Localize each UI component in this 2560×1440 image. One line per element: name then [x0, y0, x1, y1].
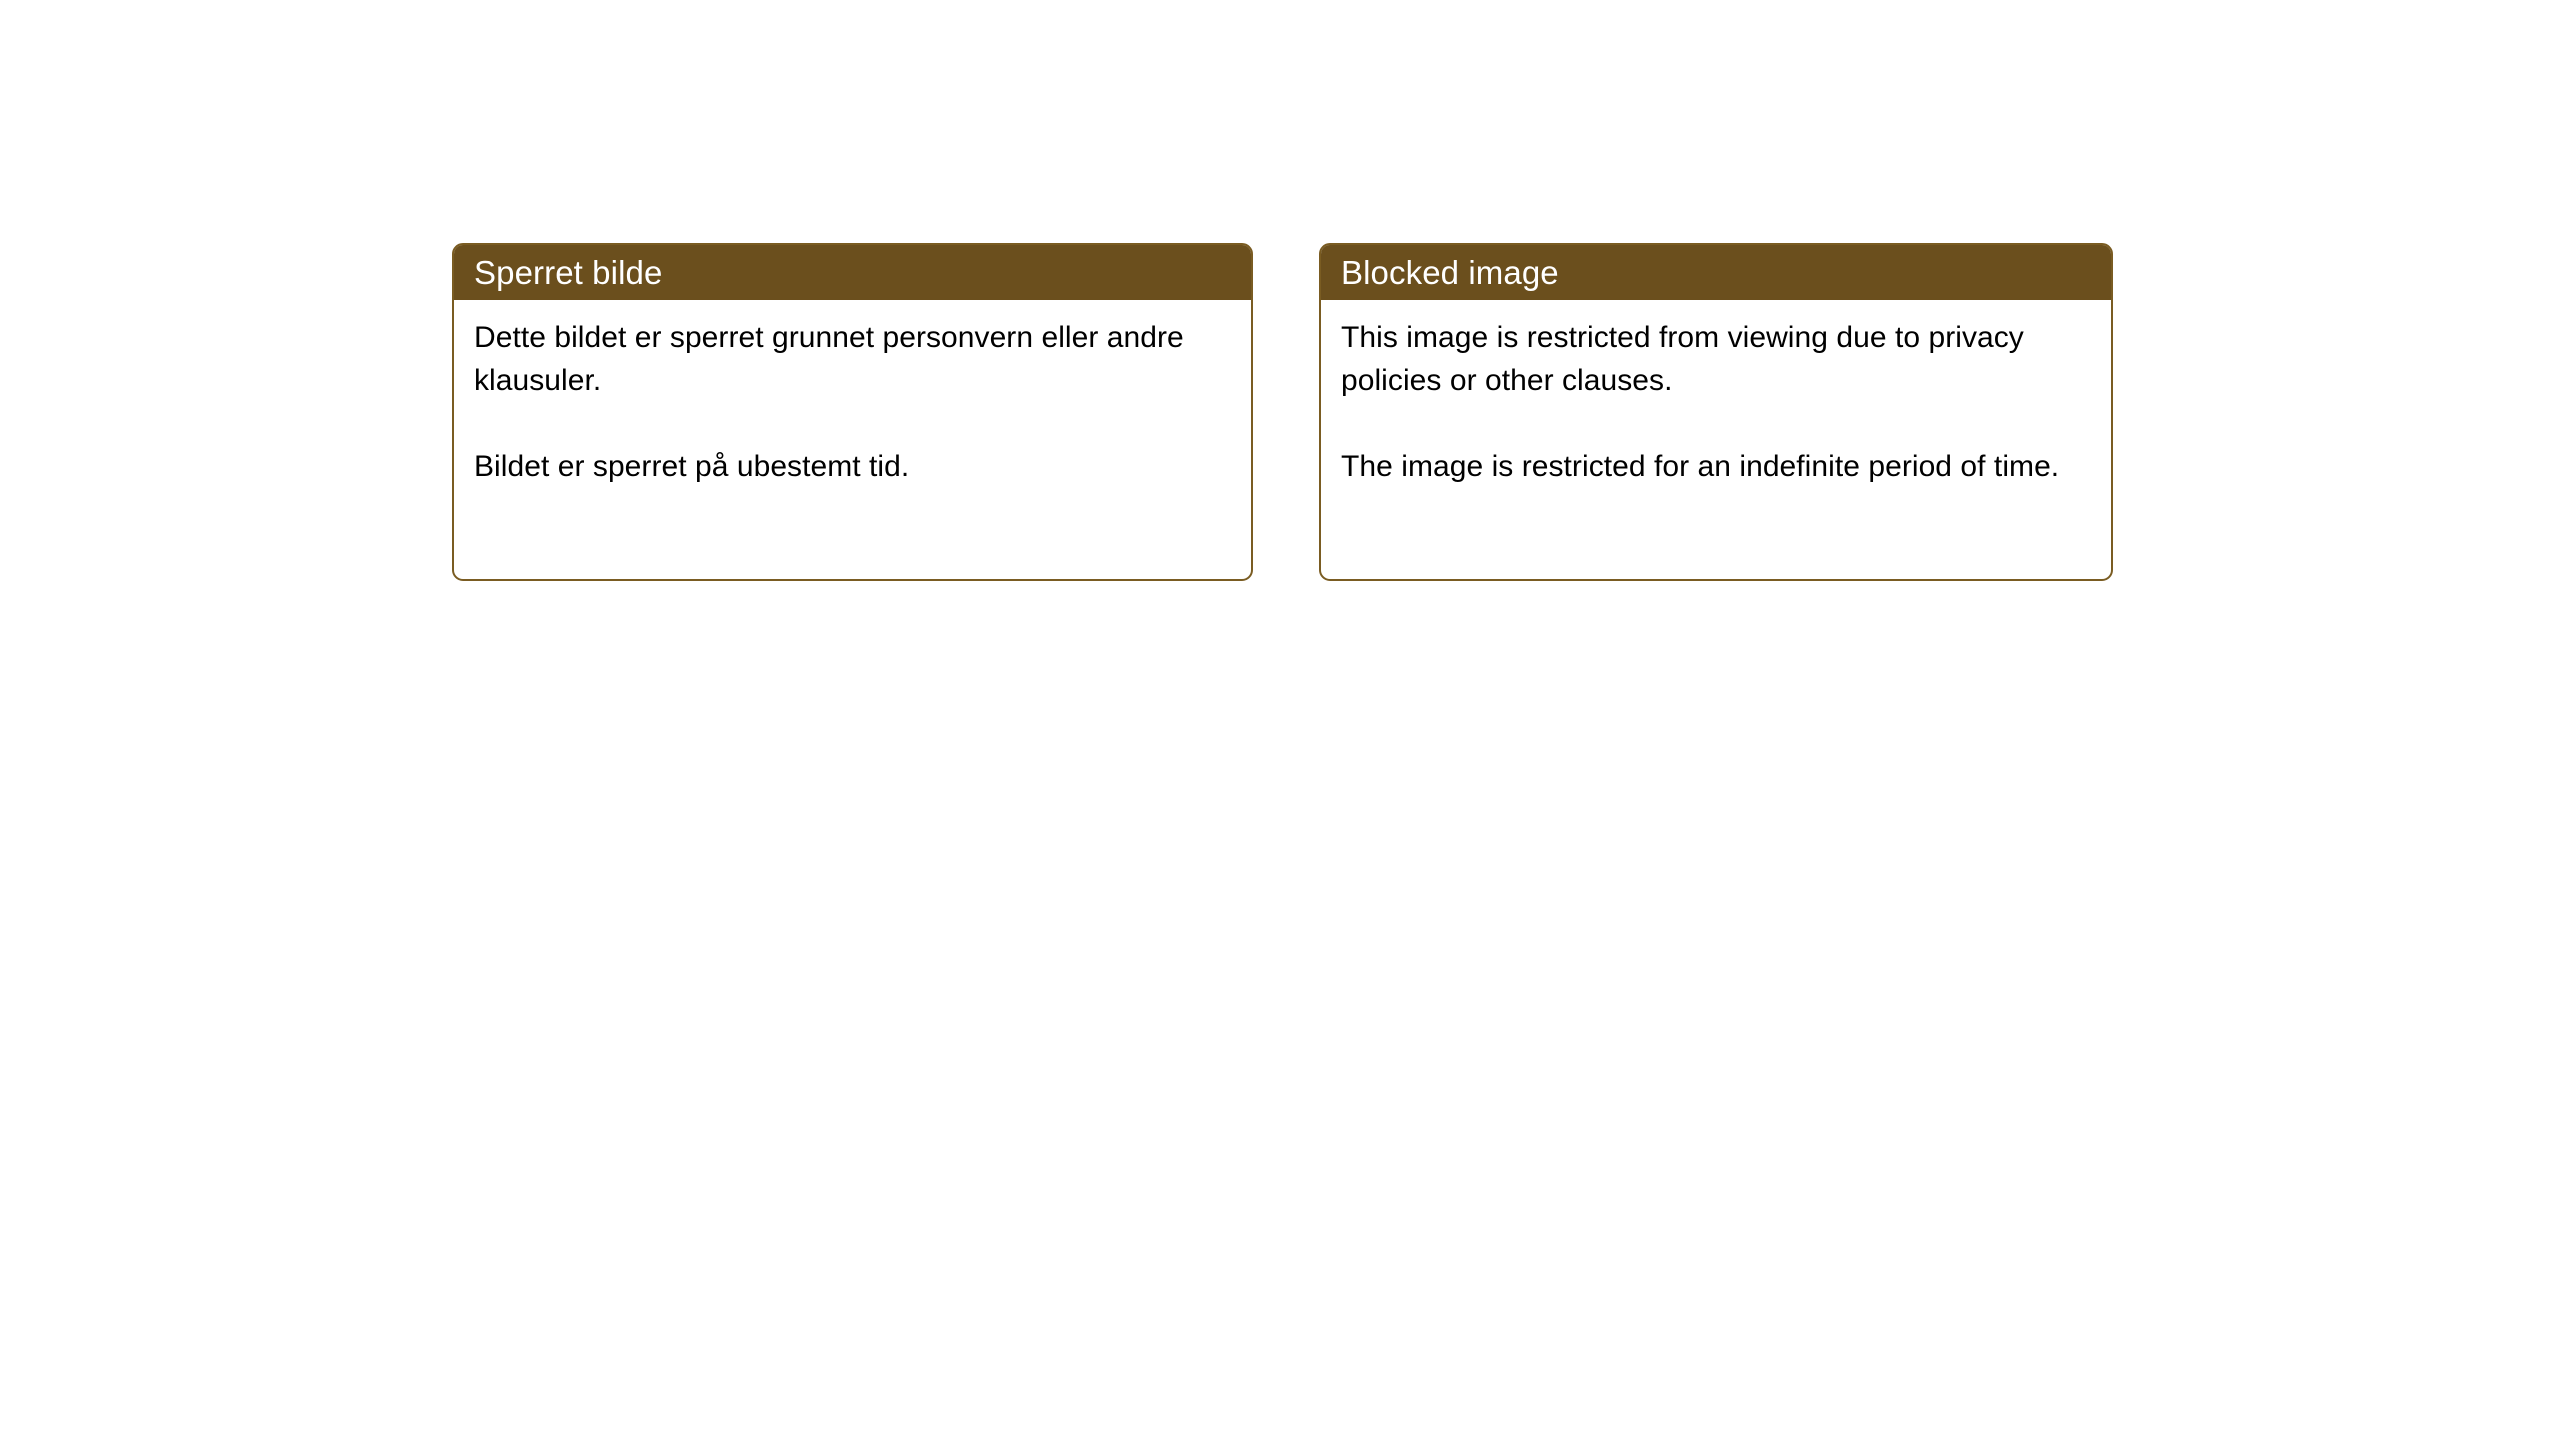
blocked-image-notice-card-en: Blocked image This image is restricted f…: [1319, 243, 2113, 581]
notice-card-title-no: Sperret bilde: [474, 256, 662, 289]
notice-card-body-en: This image is restricted from viewing du…: [1321, 300, 2111, 488]
notice-card-body-no: Dette bildet er sperret grunnet personve…: [454, 300, 1251, 488]
notice-card-paragraph: Dette bildet er sperret grunnet personve…: [474, 316, 1233, 402]
notice-card-title-en: Blocked image: [1341, 256, 1559, 289]
page-canvas: Sperret bilde Dette bildet er sperret gr…: [0, 0, 2560, 1440]
notice-card-paragraph: Bildet er sperret på ubestemt tid.: [474, 445, 1233, 488]
notice-card-header-no: Sperret bilde: [454, 245, 1251, 300]
notice-card-paragraph: The image is restricted for an indefinit…: [1341, 445, 2093, 488]
notice-card-paragraph: This image is restricted from viewing du…: [1341, 316, 2093, 402]
blocked-image-notice-card-no: Sperret bilde Dette bildet er sperret gr…: [452, 243, 1253, 581]
notice-card-header-en: Blocked image: [1321, 245, 2111, 300]
